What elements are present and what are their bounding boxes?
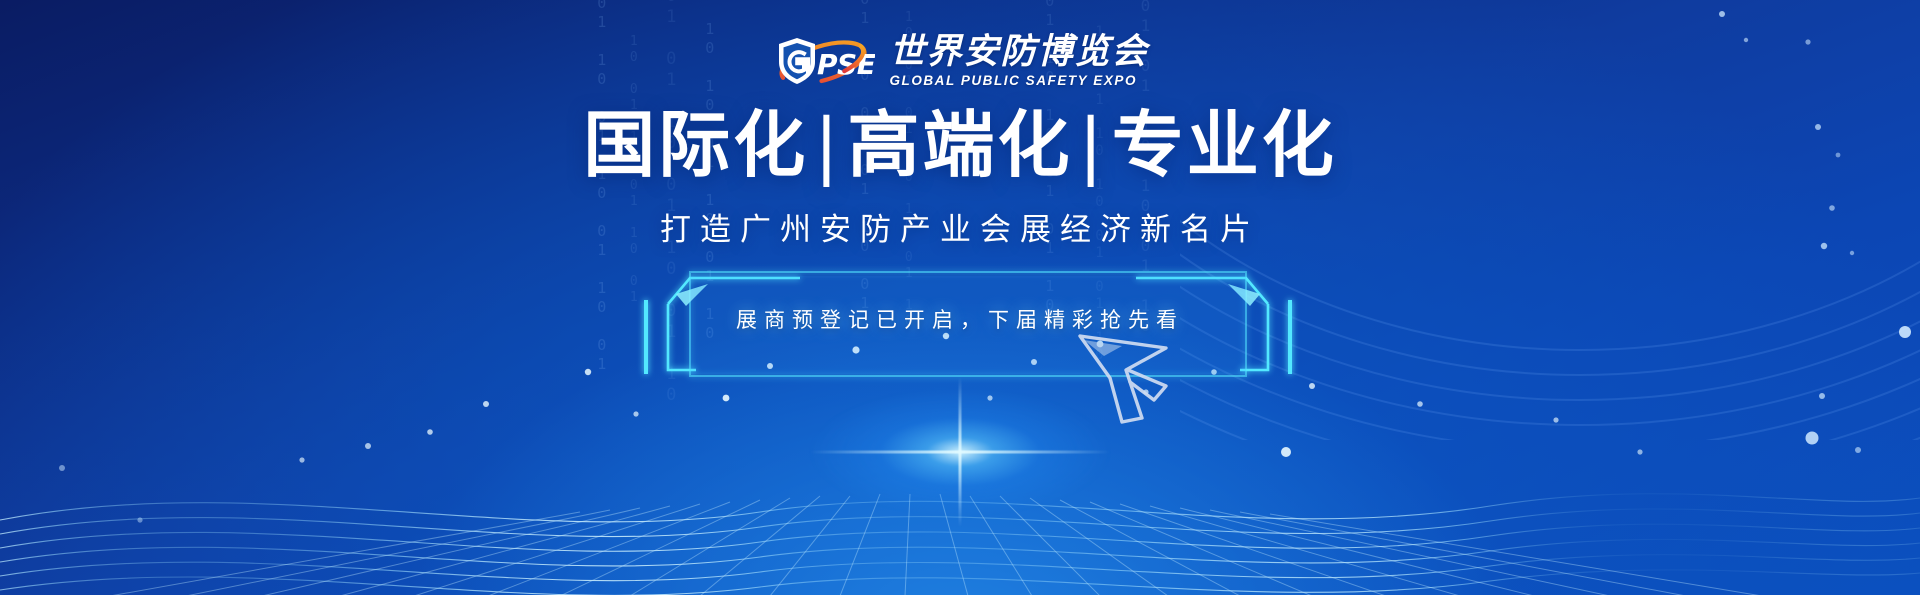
headline-part-2: 高端化 [847,103,1072,187]
page-headline: 国际化|高端化|专业化 [0,104,1920,187]
brand-title-cn: 世界安防博览会 [889,34,1148,71]
headline-part-3: 专业化 [1112,103,1337,187]
brand-logo-row: PSE 世界安防博览会 GLOBAL PUBLIC SAFETY EXPO [0,30,1920,92]
page-subheading: 打造广州安防产业会展经济新名片 [0,204,1920,249]
headline-separator: | [1073,103,1112,187]
headline-separator: | [808,103,847,187]
svg-text:PSE: PSE [817,48,875,81]
pre-registration-cta[interactable]: 展商预登记已开启，下届精彩抢先看 [650,258,1270,408]
brand-wordmark: 世界安防博览会 GLOBAL PUBLIC SAFETY EXPO [889,34,1148,89]
headline-part-1: 国际化 [583,103,808,187]
gpse-shield-logo: PSE [771,30,875,92]
mouse-pointer-icon [1070,326,1190,446]
gpse-promo-banner: 01 10 01 10 01 10 01 10 01 10 01 10 01 0… [0,0,1920,595]
brand-title-en: GLOBAL PUBLIC SAFETY EXPO [889,73,1148,88]
